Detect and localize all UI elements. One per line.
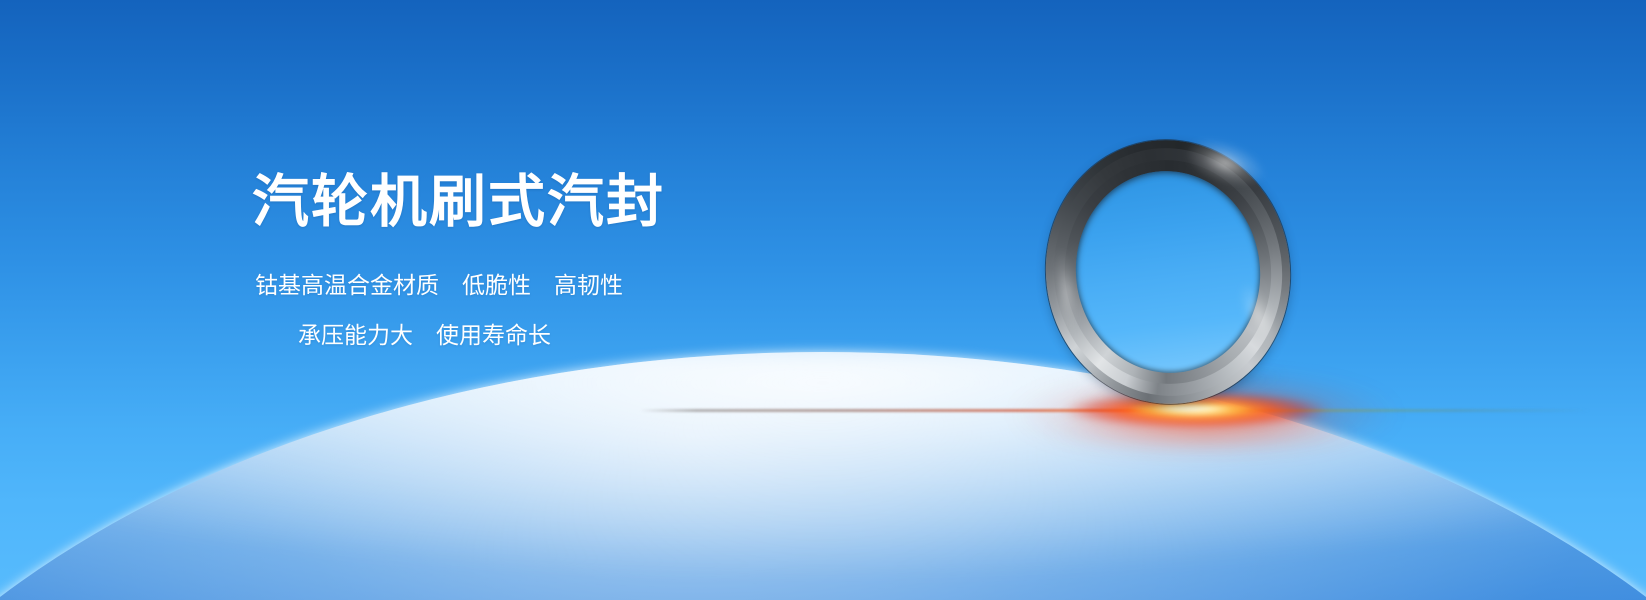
feature-line-2: 承压能力大 使用寿命长 <box>298 320 551 351</box>
feature-line-1: 钴基高温合金材质 低脆性 高韧性 <box>255 270 623 301</box>
banner-copy: 汽轮机刷式汽封 钴基高温合金材质 低脆性 高韧性 承压能力大 使用寿命长 <box>0 0 1646 600</box>
page-title: 汽轮机刷式汽封 <box>252 173 665 233</box>
hero-banner: 汽轮机刷式汽封 钴基高温合金材质 低脆性 高韧性 承压能力大 使用寿命长 <box>0 0 1646 600</box>
